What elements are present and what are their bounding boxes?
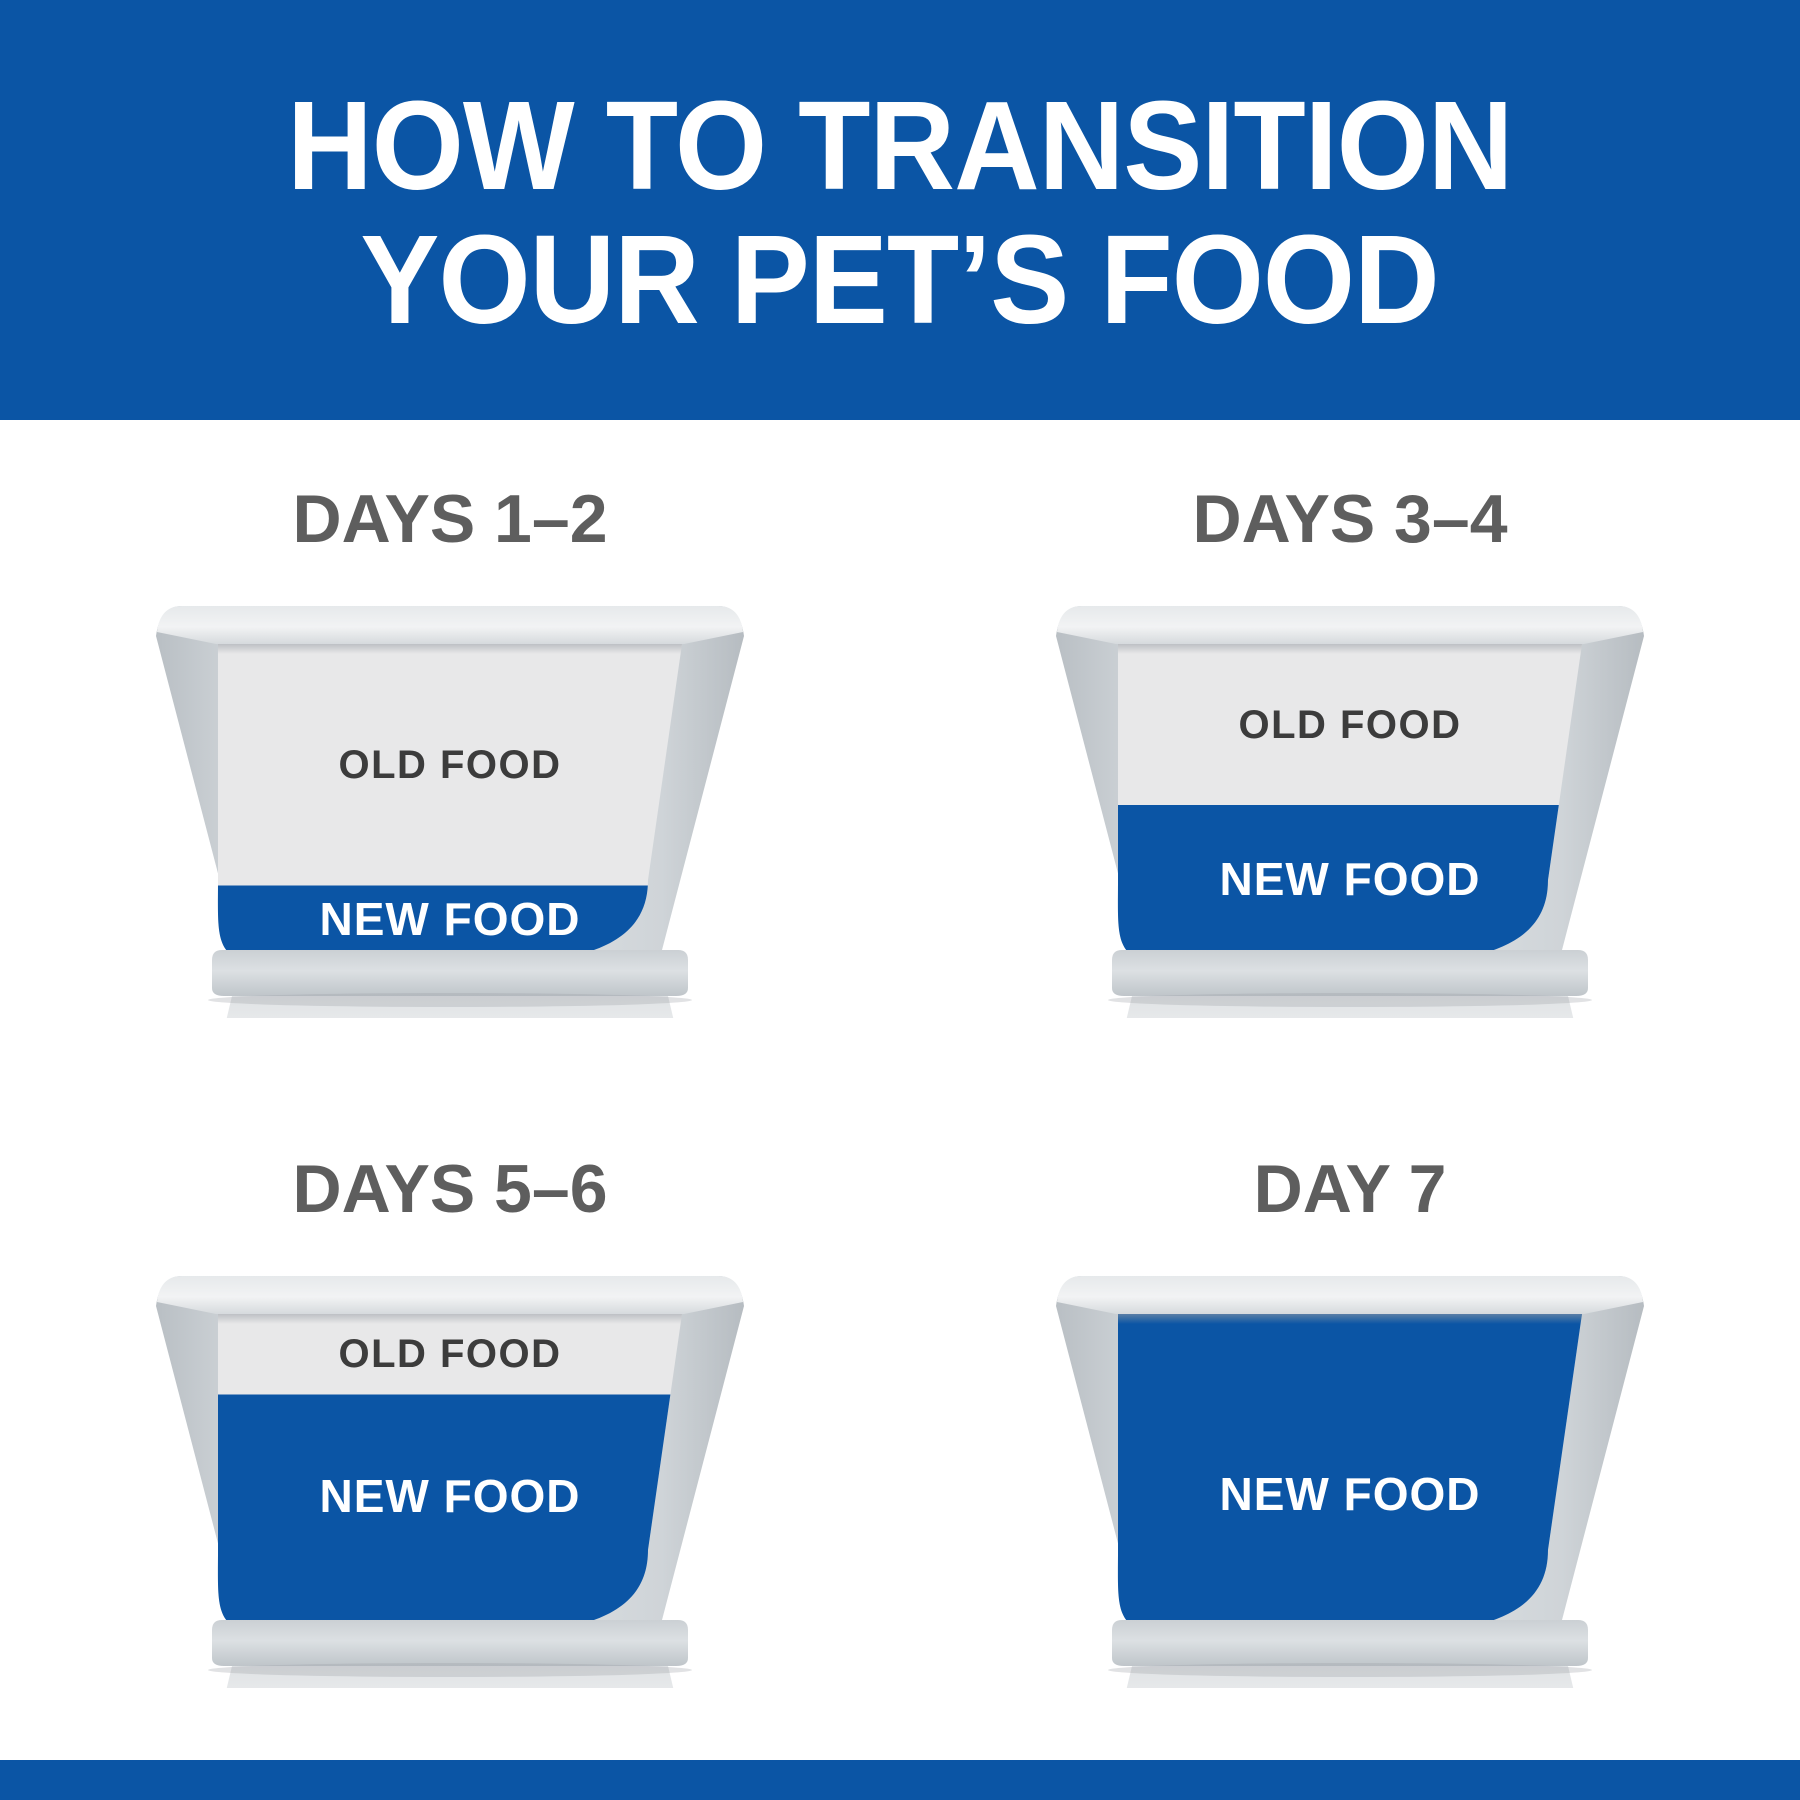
bowl-rim <box>157 1276 743 1314</box>
step-card-day-7: DAY 7 NEW FOOD <box>900 1090 1800 1760</box>
bowl-base <box>212 950 688 996</box>
page-title-line-2: YOUR PET’S FOOD <box>361 213 1439 347</box>
step-label-day-7: DAY 7 <box>900 1155 1800 1223</box>
bowl-days-5-6: OLD FOODNEW FOOD <box>100 1268 800 1688</box>
header-banner: HOW TO TRANSITION YOUR PET’S FOOD <box>0 0 1800 420</box>
bowl-base <box>212 1620 688 1666</box>
bowl-graphic <box>100 1268 800 1688</box>
bowl-contact-shadow <box>208 1663 692 1677</box>
bowl-inner-shade <box>218 644 682 654</box>
step-label-days-1-2: DAYS 1–2 <box>0 485 900 553</box>
bowl-contact-shadow <box>208 993 692 1007</box>
step-card-days-3-4: DAYS 3–4 OLD FOODNEW FOOD <box>900 420 1800 1090</box>
step-label-days-5-6: DAYS 5–6 <box>0 1155 900 1223</box>
bowl-graphic <box>1000 598 1700 1018</box>
page-title-line-1: HOW TO TRANSITION <box>287 79 1512 213</box>
bowl-days-1-2: OLD FOODNEW FOOD <box>100 598 800 1018</box>
bowl-base <box>1112 1620 1588 1666</box>
bowl-days-3-4: OLD FOODNEW FOOD <box>1000 598 1700 1018</box>
bowl-contact-shadow <box>1108 993 1592 1007</box>
step-card-days-5-6: DAYS 5–6 OLD FOODNEW FOOD <box>0 1090 900 1760</box>
bowl-rim <box>1057 606 1643 644</box>
step-label-days-3-4: DAYS 3–4 <box>900 485 1800 553</box>
bowl-contact-shadow <box>1108 1663 1592 1677</box>
bowl-graphic <box>100 598 800 1018</box>
bowl-graphic <box>1000 1268 1700 1688</box>
bowl-inner-shade <box>1118 1314 1582 1324</box>
footer-bar <box>0 1760 1800 1800</box>
bowl-rim <box>1057 1276 1643 1314</box>
bowl-inner-shade <box>218 1314 682 1324</box>
infographic-page: HOW TO TRANSITION YOUR PET’S FOOD DAYS 1… <box>0 0 1800 1800</box>
steps-grid: DAYS 1–2 OLD FOODNEW FOOD DAYS 3–4 OLD F… <box>0 420 1800 1760</box>
step-card-days-1-2: DAYS 1–2 OLD FOODNEW FOOD <box>0 420 900 1090</box>
bowl-base <box>1112 950 1588 996</box>
bowl-day-7: NEW FOOD <box>1000 1268 1700 1688</box>
bowl-inner-shade <box>1118 644 1582 654</box>
bowl-rim <box>157 606 743 644</box>
